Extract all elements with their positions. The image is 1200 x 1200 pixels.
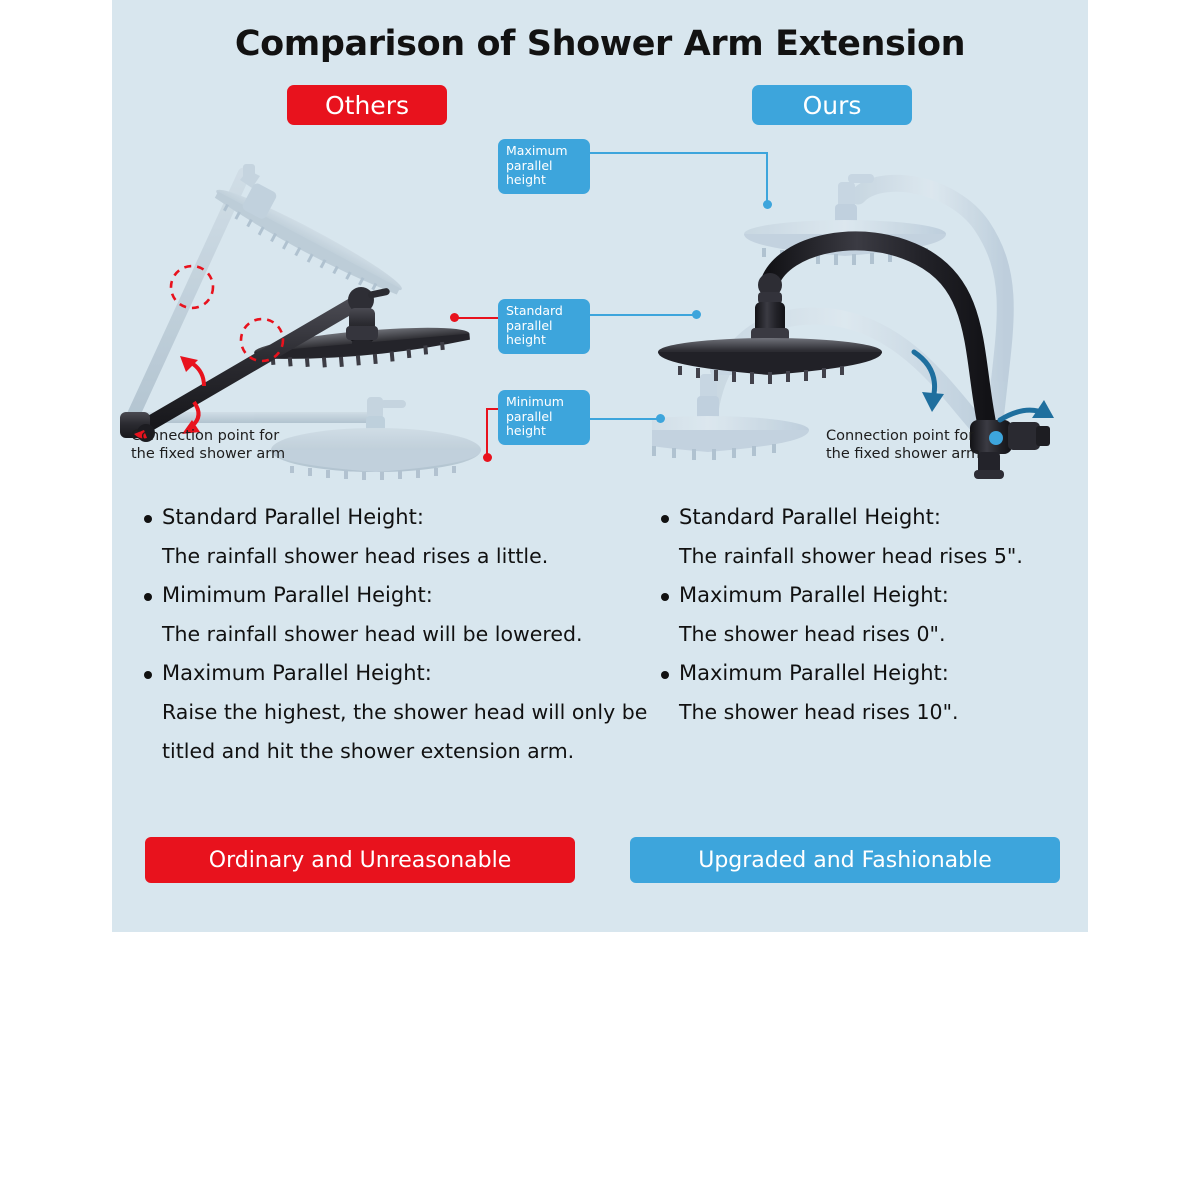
bullet-body: The rainfall shower head will be lowered… — [140, 615, 670, 654]
callout-maximum-line2: parallel height — [506, 158, 553, 188]
callout-minimum-line1: Minimum — [506, 394, 564, 409]
caption-connection-right: Connection point for the fixed shower ar… — [826, 427, 980, 463]
caption-connection-right-l1: Connection point for — [826, 427, 980, 445]
badge-others: Others — [287, 85, 447, 125]
ghost-arm-steep — [132, 164, 414, 418]
caption-connection-right-l2: the fixed shower arm — [826, 445, 980, 463]
bullet-body: The shower head rises 10". — [657, 693, 1087, 732]
bullet-head: Maximum Parallel Height: — [657, 654, 1087, 693]
connector-standard-right — [574, 314, 696, 316]
bullet-body: The rainfall shower head rises a little. — [140, 537, 670, 576]
callout-minimum: Minimum parallel height — [498, 390, 590, 445]
bullet-head: Maximum Parallel Height: — [140, 654, 670, 693]
footer-banner-ours: Upgraded and Fashionable — [630, 837, 1060, 883]
callout-standard: Standard parallel height — [498, 299, 590, 354]
bullet-body: Raise the highest, the shower head will … — [140, 693, 667, 771]
connector-standard-left — [456, 317, 500, 319]
footer-banner-ours-label: Upgraded and Fashionable — [698, 848, 992, 873]
list-item: Mimimum Parallel Height: The rainfall sh… — [140, 576, 670, 654]
bullet-body: The shower head rises 0". — [657, 615, 1087, 654]
footer-banner-others: Ordinary and Unreasonable — [145, 837, 575, 883]
caption-connection-left-l1: Connection point for — [131, 427, 285, 445]
callout-standard-line2: parallel height — [506, 318, 553, 348]
callout-minimum-line2: parallel height — [506, 409, 553, 439]
badge-ours-label: Ours — [803, 91, 862, 120]
badge-ours: Ours — [752, 85, 912, 125]
bullet-head: Mimimum Parallel Height: — [140, 576, 670, 615]
footer-banner-others-label: Ordinary and Unreasonable — [209, 848, 512, 873]
bullet-head: Standard Parallel Height: — [140, 498, 670, 537]
list-item: Standard Parallel Height: The rainfall s… — [657, 498, 1087, 576]
callout-maximum: Maximum parallel height — [498, 139, 590, 194]
caption-connection-left: Connection point for the fixed shower ar… — [131, 427, 285, 463]
connector-standard-right-dot — [692, 310, 701, 319]
connector-maximum — [574, 152, 768, 154]
list-item: Standard Parallel Height: The rainfall s… — [140, 498, 670, 576]
ours-feature-list: Standard Parallel Height: The rainfall s… — [657, 498, 1087, 732]
valve-connector — [970, 420, 1050, 479]
callout-standard-line1: Standard — [506, 303, 563, 318]
connector-maximum-drop — [766, 152, 768, 205]
page-title: Comparison of Shower Arm Extension — [112, 24, 1088, 64]
connector-minimum-dot — [483, 453, 492, 462]
bullet-head: Standard Parallel Height: — [657, 498, 1087, 537]
connector-standard-left-dot — [450, 313, 459, 322]
list-item: Maximum Parallel Height: The shower head… — [657, 654, 1087, 732]
connector-minimum-right-dot — [656, 414, 665, 423]
badge-others-label: Others — [325, 91, 409, 120]
bullet-head: Maximum Parallel Height: — [657, 576, 1087, 615]
comparison-panel: Comparison of Shower Arm Extension Other… — [112, 0, 1088, 932]
rotate-arrow-lower-head — [922, 392, 944, 412]
list-item: Maximum Parallel Height: Raise the highe… — [140, 654, 670, 771]
bullet-body: The rainfall shower head rises 5". — [657, 537, 1087, 576]
list-item: Maximum Parallel Height: The shower head… — [657, 576, 1087, 654]
connector-minimum-stem — [486, 408, 488, 458]
connector-maximum-dot — [763, 200, 772, 209]
callout-maximum-line1: Maximum — [506, 143, 568, 158]
caption-connection-left-l2: the fixed shower arm — [131, 445, 285, 463]
others-feature-list: Standard Parallel Height: The rainfall s… — [140, 498, 670, 771]
